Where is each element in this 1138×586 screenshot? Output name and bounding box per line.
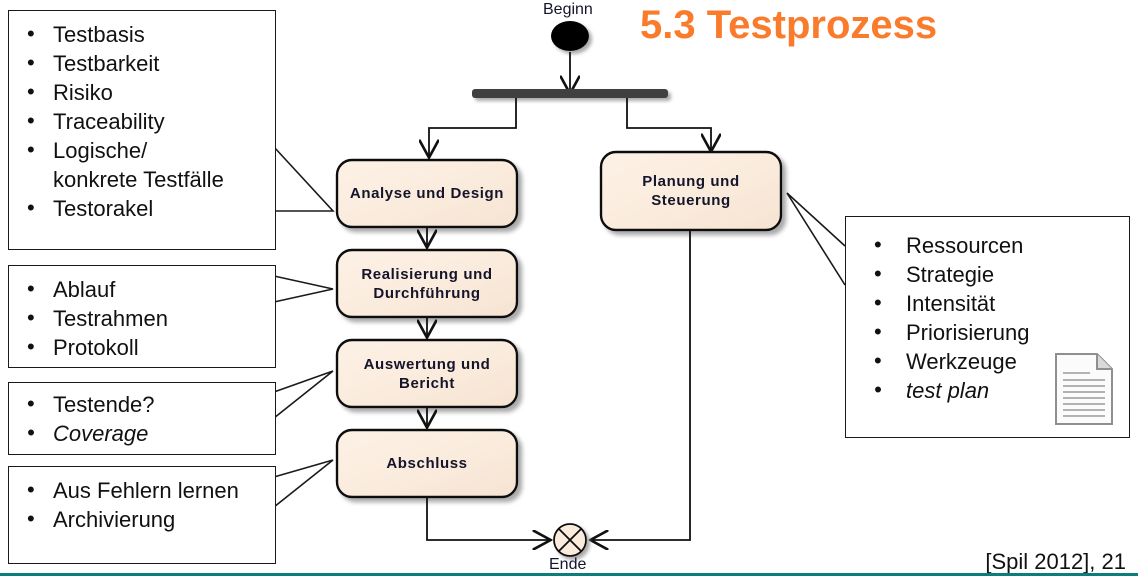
callout-item-text: Coverage [53, 421, 148, 446]
callout-list-item: •Traceability [9, 107, 275, 136]
bullet-glyph: • [27, 135, 35, 164]
callout-tail-4 [274, 460, 333, 507]
callout-list-item: •Testbarkeit [9, 49, 275, 78]
callout-item-text: test plan [906, 378, 989, 403]
bullet-glyph: • [874, 346, 882, 375]
bullet-glyph: • [874, 259, 882, 288]
edge-fork-to-analyse [429, 98, 516, 156]
callout-item-text: Protokoll [53, 335, 139, 360]
callout-item-text: konkrete Testfälle [53, 167, 224, 192]
callout-list-item: •Ablauf [9, 275, 275, 304]
fork-bar [472, 89, 668, 98]
callout-item-text: Ablauf [53, 277, 115, 302]
callout-tail-1 [274, 147, 333, 211]
callout-item-text: Traceability [53, 109, 165, 134]
bullet-glyph: • [27, 193, 35, 222]
bullet-glyph: • [27, 389, 35, 418]
bullet-glyph: • [874, 317, 882, 346]
callout-box-planung: •Ressourcen•Strategie•Intensität•Prioris… [845, 216, 1130, 438]
initial-node-label: Beginn [543, 1, 593, 19]
callout-list-item: •Risiko [9, 78, 275, 107]
callout-item-text: Werkzeuge [906, 349, 1017, 374]
callout-list-item: •Archivierung [9, 505, 275, 534]
callout-item-text: Testbasis [53, 22, 145, 47]
bullet-glyph: • [27, 106, 35, 135]
callout-tail-5 [787, 193, 845, 285]
callout-box-realisierung: •Ablauf•Testrahmen•Protokoll [8, 265, 276, 368]
bullet-glyph: • [874, 288, 882, 317]
flow-final-node [554, 524, 586, 556]
callout-item-text: Testbarkeit [53, 51, 159, 76]
edge-abschluss-to-end [427, 497, 549, 540]
edge-planung-to-end [592, 230, 690, 540]
callout-box-abschluss: •Aus Fehlern lernen•Archivierung [8, 466, 276, 564]
callout-box-analyse: •Testbasis•Testbarkeit•Risiko•Traceabili… [8, 10, 276, 250]
callout-box-auswertung: •Testende?•Coverage [8, 382, 276, 455]
callout-item-text: Ressourcen [906, 233, 1023, 258]
callout-list-item: •Aus Fehlern lernen [9, 476, 275, 505]
bullet-glyph: • [27, 48, 35, 77]
bullet-glyph: • [27, 475, 35, 504]
callout-item-text: Risiko [53, 80, 113, 105]
callout-list-item: •Intensität [846, 289, 1129, 318]
bullet-glyph: • [27, 274, 35, 303]
callout-list-item: •Testende? [9, 390, 275, 419]
final-node-label: Ende [549, 556, 586, 574]
callout-tail-3 [274, 371, 333, 418]
bullet-glyph: • [27, 19, 35, 48]
callout-list: •Ablauf•Testrahmen•Protokoll [9, 266, 275, 362]
bullet-glyph: • [27, 332, 35, 361]
callout-list: •Aus Fehlern lernen•Archivierung [9, 467, 275, 534]
callout-item-text: Logische/ [53, 138, 147, 163]
callout-list-item: •Coverage [9, 419, 275, 448]
callout-item-text: Testrahmen [53, 306, 168, 331]
activity-node-planung[interactable] [601, 152, 781, 230]
bullet-glyph: • [27, 504, 35, 533]
callout-list-item: konkrete Testfälle [9, 165, 275, 194]
bullet-glyph: • [27, 77, 35, 106]
activity-node-abschluss[interactable] [337, 430, 517, 497]
callout-list: •Testende?•Coverage [9, 383, 275, 448]
bullet-glyph: • [874, 230, 882, 259]
bullet-glyph: • [27, 418, 35, 447]
callout-item-text: Priorisierung [906, 320, 1030, 345]
callout-list-item: •Testrahmen [9, 304, 275, 333]
callout-tail-2 [274, 276, 333, 302]
callout-item-text: Strategie [906, 262, 994, 287]
callout-list-item: •Logische/ [9, 136, 275, 165]
bullet-glyph: • [27, 303, 35, 332]
edge-fork-to-planung [627, 98, 711, 150]
callout-list-item: •Testbasis [9, 20, 275, 49]
activity-node-analyse[interactable] [337, 160, 517, 227]
callout-item-text: Intensität [906, 291, 995, 316]
callout-list: •Testbasis•Testbarkeit•Risiko•Traceabili… [9, 11, 275, 223]
callout-list-item: •Priorisierung [846, 318, 1129, 347]
document-icon [1053, 351, 1115, 427]
bullet-glyph: • [874, 375, 882, 404]
activity-node-realisierung[interactable] [337, 250, 517, 317]
activity-node-auswertung[interactable] [337, 340, 517, 407]
callout-item-text: Testende? [53, 392, 155, 417]
slide-canvas: 5.3 Testprozess [0, 0, 1138, 586]
callout-list-item: •Testorakel [9, 194, 275, 223]
callout-item-text: Aus Fehlern lernen [53, 478, 239, 503]
initial-node [551, 21, 589, 51]
callout-list-item: •Protokoll [9, 333, 275, 362]
callout-list-item: •Ressourcen [846, 231, 1129, 260]
callout-list-item: •Strategie [846, 260, 1129, 289]
callout-item-text: Archivierung [53, 507, 175, 532]
callout-item-text: Testorakel [53, 196, 153, 221]
